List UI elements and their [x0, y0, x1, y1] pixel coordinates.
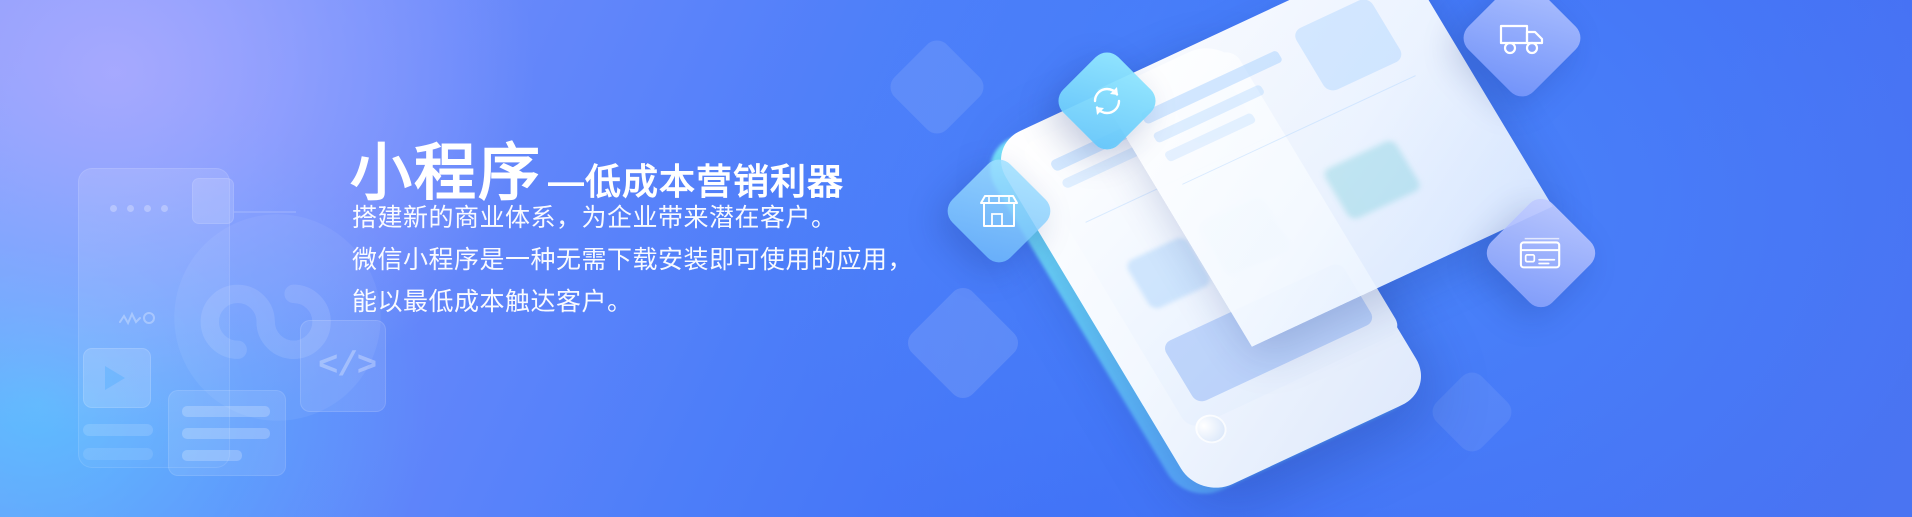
- description-line: 微信小程序是一种无需下载安装即可使用的应用，: [352, 239, 913, 281]
- decorative-bar: [83, 424, 153, 436]
- decorative-blob: [1427, 367, 1518, 458]
- decorative-video-card: [83, 348, 151, 408]
- decorative-connector-line: [234, 211, 296, 213]
- decorative-bar: [83, 448, 153, 460]
- hero-illustration: [1010, 0, 1710, 517]
- promo-banner: </> 小程序—低成本营销利器 搭建新的商业体系，为企业带来潜在客户。 微信小程…: [0, 0, 1912, 517]
- decorative-dots: [110, 205, 168, 212]
- decorative-list-row: [182, 450, 242, 461]
- description-line: 能以最低成本触达客户。: [352, 281, 913, 323]
- decorative-list-row: [182, 428, 270, 439]
- banner-description: 搭建新的商业体系，为企业带来潜在客户。 微信小程序是一种无需下载安装即可使用的应…: [352, 197, 913, 323]
- play-icon: [105, 366, 125, 390]
- decorative-phone-card: [78, 168, 230, 468]
- decorative-waveform-icon: [118, 310, 160, 326]
- decorative-square: [192, 178, 234, 224]
- decorative-list-row: [182, 406, 270, 417]
- headline-sub: —低成本营销利器: [548, 161, 844, 202]
- description-line: 搭建新的商业体系，为企业带来潜在客户。: [352, 197, 913, 239]
